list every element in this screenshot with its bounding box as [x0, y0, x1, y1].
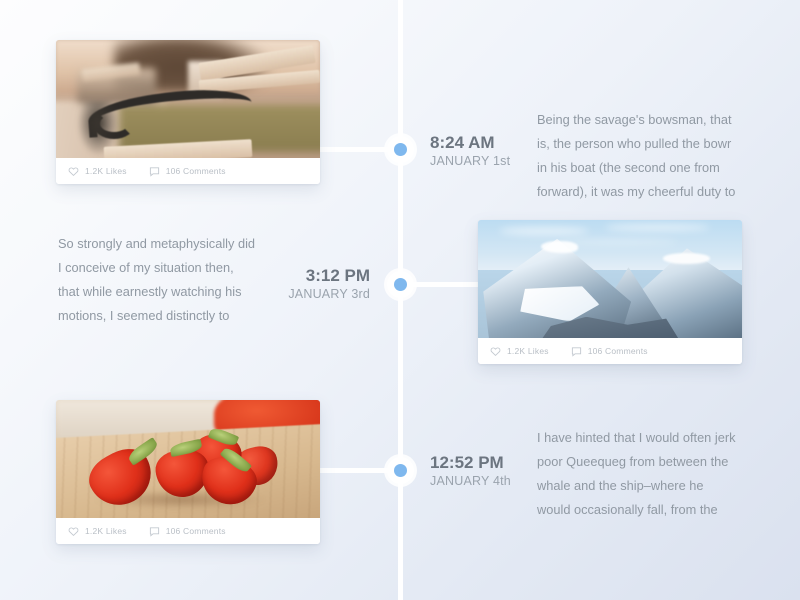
node-dot-icon: [394, 464, 407, 477]
timeline-node[interactable]: [387, 457, 414, 484]
comment-bubble-icon: [149, 526, 160, 537]
comments-label: 106 Comments: [166, 166, 226, 176]
post-card[interactable]: 1.2K Likes 106 Comments: [478, 220, 742, 364]
comment-bubble-icon: [149, 166, 160, 177]
entry-date: JANUARY 3rd: [288, 286, 370, 303]
timeline-node[interactable]: [387, 271, 414, 298]
park-bench-photo: [56, 40, 320, 158]
post-card[interactable]: 1.2K Likes 106 Comments: [56, 400, 320, 544]
mountain-peaks-photo: [478, 220, 742, 338]
entry-time: 8:24 AM: [430, 132, 510, 153]
card-meta-bar: 1.2K Likes 106 Comments: [56, 158, 320, 184]
comments-item[interactable]: 106 Comments: [149, 166, 226, 177]
timeline-node[interactable]: [387, 136, 414, 163]
entry-paragraph: I have hinted that I would often jerk po…: [537, 426, 737, 522]
card-meta-bar: 1.2K Likes 106 Comments: [478, 338, 742, 364]
comments-label: 106 Comments: [166, 526, 226, 536]
likes-item[interactable]: 1.2K Likes: [490, 346, 549, 357]
likes-item[interactable]: 1.2K Likes: [68, 526, 127, 537]
heart-icon: [490, 346, 501, 357]
entry-paragraph: So strongly and metaphysically did I con…: [58, 232, 258, 328]
likes-label: 1.2K Likes: [85, 526, 127, 536]
node-dot-icon: [394, 143, 407, 156]
comments-item[interactable]: 106 Comments: [149, 526, 226, 537]
comments-label: 106 Comments: [588, 346, 648, 356]
likes-label: 1.2K Likes: [85, 166, 127, 176]
timestamp: 3:12 PM JANUARY 3rd: [288, 265, 370, 303]
node-dot-icon: [394, 278, 407, 291]
timeline-spine: [398, 0, 403, 600]
post-card[interactable]: 1.2K Likes 106 Comments: [56, 40, 320, 184]
entry-paragraph: Being the savage's bowsman, that is, the…: [537, 108, 737, 204]
entry-time: 12:52 PM: [430, 452, 511, 473]
entry-date: JANUARY 4th: [430, 473, 511, 490]
entry-time: 3:12 PM: [288, 265, 370, 286]
entry-date: JANUARY 1st: [430, 153, 510, 170]
comment-bubble-icon: [571, 346, 582, 357]
timestamp: 8:24 AM JANUARY 1st: [430, 132, 510, 170]
likes-label: 1.2K Likes: [507, 346, 549, 356]
heart-icon: [68, 526, 79, 537]
strawberries-photo: [56, 400, 320, 518]
card-meta-bar: 1.2K Likes 106 Comments: [56, 518, 320, 544]
comments-item[interactable]: 106 Comments: [571, 346, 648, 357]
timestamp: 12:52 PM JANUARY 4th: [430, 452, 511, 490]
heart-icon: [68, 166, 79, 177]
likes-item[interactable]: 1.2K Likes: [68, 166, 127, 177]
